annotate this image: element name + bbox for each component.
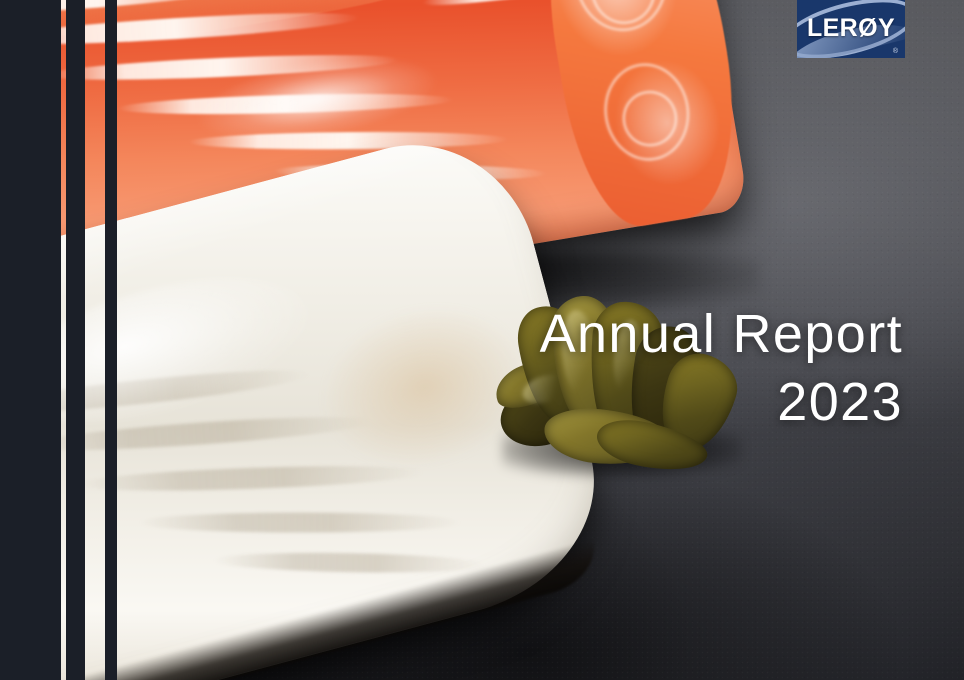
spine-bar-right (105, 0, 117, 680)
logo-wordmark: LERØY (797, 14, 905, 43)
whitefish-flake-line (139, 512, 461, 532)
title-line-annual-report: Annual Report (540, 300, 903, 368)
title-line-year: 2023 (540, 368, 903, 436)
annual-report-cover: LERØY ® Annual Report 2023 (0, 0, 964, 680)
spine-bar-middle (66, 0, 85, 680)
page-title: Annual Report 2023 (540, 300, 903, 436)
leroy-logo[interactable]: LERØY ® (797, 0, 905, 58)
spine-bar-left (0, 0, 61, 680)
logo-registered-mark: ® (893, 48, 898, 55)
